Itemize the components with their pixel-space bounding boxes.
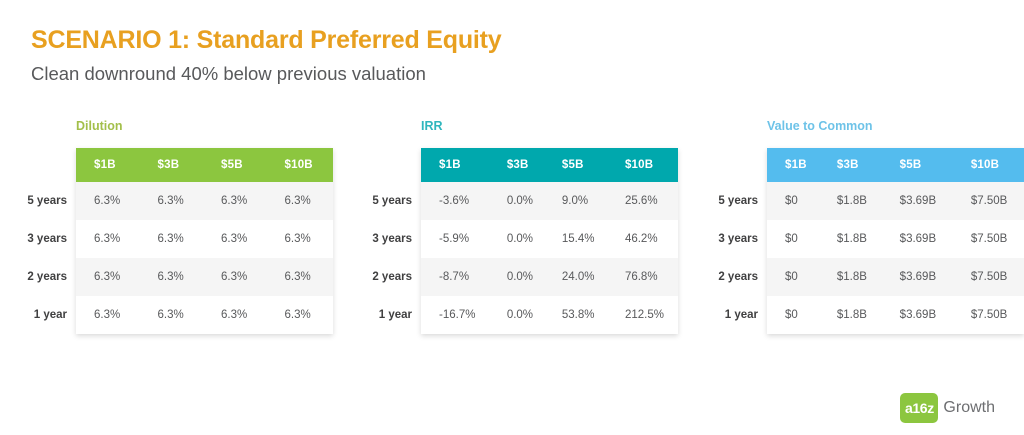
table-cell: -16.7% [421, 296, 489, 334]
table-cell: 6.3% [267, 258, 334, 296]
table-cell: 6.3% [140, 258, 204, 296]
table-row: $0 $1.8B $3.69B $7.50B [767, 296, 1024, 334]
table-dilution: $1B $3B $5B $10B 6.3% 6.3% 6.3% 6.3% 6.3… [76, 148, 333, 334]
table-cell: 15.4% [544, 220, 607, 258]
table-cell: $3.69B [882, 220, 953, 258]
table-cell: -3.6% [421, 182, 489, 220]
column-header: $1B [767, 148, 819, 182]
row-labels-irr: 5 years 3 years 2 years 1 year [362, 148, 421, 334]
column-header: $10B [953, 148, 1024, 182]
table-cell: 6.3% [267, 182, 334, 220]
table-cell: $3.69B [882, 258, 953, 296]
panel-dilution: Dilution 5 years 3 years 2 years 1 year … [17, 120, 333, 334]
table-cell: $3.69B [882, 296, 953, 334]
table-cell: 53.8% [544, 296, 607, 334]
table-cell: $0 [767, 258, 819, 296]
panel-irr: IRR 5 years 3 years 2 years 1 year $1B $… [362, 120, 678, 334]
table-header-row: $1B $3B $5B $10B [421, 148, 678, 182]
row-label: 1 year [17, 296, 76, 334]
row-label: 5 years [17, 182, 76, 220]
row-label: 1 year [362, 296, 421, 334]
table-cell: -8.7% [421, 258, 489, 296]
page-title: SCENARIO 1: Standard Preferred Equity [31, 27, 501, 55]
column-header: $3B [819, 148, 882, 182]
table-cell: $1.8B [819, 258, 882, 296]
table-cell: $1.8B [819, 296, 882, 334]
column-header: $3B [140, 148, 204, 182]
page-subtitle: Clean downround 40% below previous valua… [31, 64, 501, 84]
table-row: -5.9% 0.0% 15.4% 46.2% [421, 220, 678, 258]
table-cell: 6.3% [140, 220, 204, 258]
logo-mark-icon: a16z [900, 393, 938, 423]
column-header: $5B [203, 148, 267, 182]
column-header: $10B [607, 148, 678, 182]
table-cell: 0.0% [489, 258, 544, 296]
table-value-to-common: $1B $3B $5B $10B $0 $1.8B $3.69B $7.50B … [767, 148, 1024, 334]
column-header: $5B [544, 148, 607, 182]
row-label: 2 years [17, 258, 76, 296]
table-cell: 6.3% [267, 220, 334, 258]
table-row: 6.3% 6.3% 6.3% 6.3% [76, 182, 333, 220]
panel-label-value-to-common: Value to Common [767, 120, 1024, 133]
table-row: 6.3% 6.3% 6.3% 6.3% [76, 258, 333, 296]
table-cell: 6.3% [140, 296, 204, 334]
table-cell: 6.3% [203, 182, 267, 220]
table-cell: $0 [767, 182, 819, 220]
table-cell: 6.3% [267, 296, 334, 334]
table-row: 6.3% 6.3% 6.3% 6.3% [76, 296, 333, 334]
table-cell: -5.9% [421, 220, 489, 258]
table-cell: 0.0% [489, 296, 544, 334]
row-label: 1 year [708, 296, 767, 334]
row-label: 2 years [362, 258, 421, 296]
table-wrap-dilution: 5 years 3 years 2 years 1 year $1B $3B $… [17, 148, 333, 334]
table-cell: $7.50B [953, 182, 1024, 220]
table-cell: 24.0% [544, 258, 607, 296]
table-row: -3.6% 0.0% 9.0% 25.6% [421, 182, 678, 220]
table-row: -8.7% 0.0% 24.0% 76.8% [421, 258, 678, 296]
table-cell: 6.3% [76, 296, 140, 334]
table-wrap-value-to-common: 5 years 3 years 2 years 1 year $1B $3B $… [708, 148, 1024, 334]
table-cell: 25.6% [607, 182, 678, 220]
logo-mark-text: a16z [905, 401, 934, 415]
table-cell: $1.8B [819, 182, 882, 220]
row-label: 5 years [362, 182, 421, 220]
table-cell: 0.0% [489, 220, 544, 258]
table-cell: 76.8% [607, 258, 678, 296]
brand-logo: a16z Growth [900, 393, 995, 423]
row-label: 3 years [362, 220, 421, 258]
table-cell: 6.3% [76, 258, 140, 296]
table-cell: 6.3% [203, 258, 267, 296]
panel-label-dilution: Dilution [76, 120, 333, 133]
row-labels-dilution: 5 years 3 years 2 years 1 year [17, 148, 76, 334]
table-cell: 6.3% [203, 296, 267, 334]
column-header: $1B [421, 148, 489, 182]
table-cell: $0 [767, 220, 819, 258]
panel-value-to-common: Value to Common 5 years 3 years 2 years … [708, 120, 1024, 334]
table-cell: $7.50B [953, 220, 1024, 258]
table-cell: $7.50B [953, 296, 1024, 334]
column-header: $5B [882, 148, 953, 182]
table-cell: $3.69B [882, 182, 953, 220]
table-cell: $7.50B [953, 258, 1024, 296]
slide-header: SCENARIO 1: Standard Preferred Equity Cl… [31, 27, 501, 84]
panel-label-irr: IRR [421, 120, 678, 133]
table-row: $0 $1.8B $3.69B $7.50B [767, 258, 1024, 296]
table-cell: 9.0% [544, 182, 607, 220]
table-row: -16.7% 0.0% 53.8% 212.5% [421, 296, 678, 334]
column-header: $10B [267, 148, 334, 182]
table-cell: $0 [767, 296, 819, 334]
table-cell: 6.3% [76, 182, 140, 220]
row-labels-value-to-common: 5 years 3 years 2 years 1 year [708, 148, 767, 334]
table-cell: 212.5% [607, 296, 678, 334]
table-row: 6.3% 6.3% 6.3% 6.3% [76, 220, 333, 258]
table-irr: $1B $3B $5B $10B -3.6% 0.0% 9.0% 25.6% -… [421, 148, 678, 334]
row-label: 3 years [17, 220, 76, 258]
table-wrap-irr: 5 years 3 years 2 years 1 year $1B $3B $… [362, 148, 678, 334]
table-header-row: $1B $3B $5B $10B [76, 148, 333, 182]
row-label: 3 years [708, 220, 767, 258]
row-label: 5 years [708, 182, 767, 220]
table-row: $0 $1.8B $3.69B $7.50B [767, 220, 1024, 258]
table-cell: 0.0% [489, 182, 544, 220]
table-header-row: $1B $3B $5B $10B [767, 148, 1024, 182]
row-label: 2 years [708, 258, 767, 296]
table-row: $0 $1.8B $3.69B $7.50B [767, 182, 1024, 220]
column-header: $3B [489, 148, 544, 182]
column-header: $1B [76, 148, 140, 182]
table-cell: 6.3% [203, 220, 267, 258]
table-cell: 46.2% [607, 220, 678, 258]
logo-wordmark: Growth [943, 400, 995, 416]
table-cell: 6.3% [140, 182, 204, 220]
panels-container: Dilution 5 years 3 years 2 years 1 year … [0, 120, 1024, 334]
table-cell: $1.8B [819, 220, 882, 258]
table-cell: 6.3% [76, 220, 140, 258]
